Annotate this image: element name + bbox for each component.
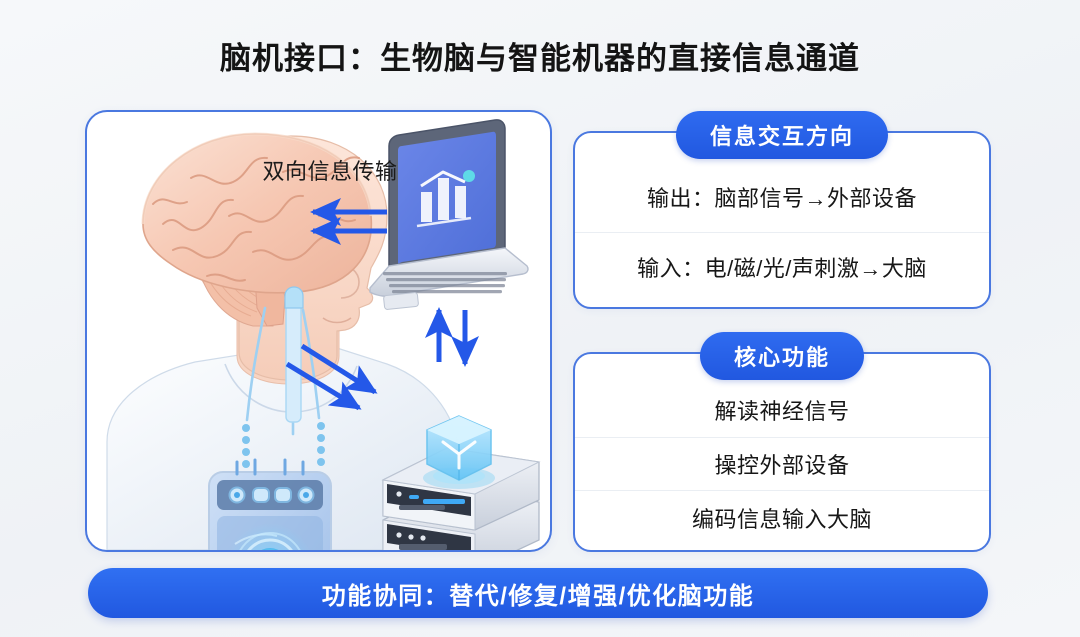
illustration-panel: 双向信息传输 [85, 110, 552, 552]
page-title: 脑机接口：生物脑与智能机器的直接信息通道 [0, 33, 1080, 78]
function-row-control: 操控外部设备 [575, 437, 989, 491]
card-direction-title: 信息交互方向 [676, 111, 888, 159]
card-functions-title: 核心功能 [700, 332, 864, 380]
laptop-trackpad [383, 292, 418, 309]
direction-row-input: 输入：电/磁/光/声刺激→大脑 [575, 232, 989, 302]
card-direction-rows: 输出：脑部信号→外部设备 输入：电/磁/光/声刺激→大脑 [575, 163, 989, 301]
bottom-banner: 功能协同：替代/修复/增强/优化脑功能 [88, 568, 988, 618]
card-core-functions: 核心功能 解读神经信号 操控外部设备 编码信息输入大脑 [573, 352, 991, 552]
infographic-stage: 脑机接口：生物脑与智能机器的直接信息通道 [0, 0, 1080, 637]
card-information-direction: 信息交互方向 输出：脑部信号→外部设备 输入：电/磁/光/声刺激→大脑 [573, 131, 991, 309]
laptop-device [370, 120, 528, 310]
function-row-decode: 解读神经信号 [575, 384, 989, 437]
illustration-label: 双向信息传输 [235, 154, 425, 186]
direction-row-output: 输出：脑部信号→外部设备 [575, 163, 989, 232]
function-row-encode: 编码信息输入大脑 [575, 490, 989, 544]
chest-implant-device [209, 460, 331, 550]
card-functions-rows: 解读神经信号 操控外部设备 编码信息输入大脑 [575, 384, 989, 544]
hologram-cube-icon [423, 416, 495, 489]
